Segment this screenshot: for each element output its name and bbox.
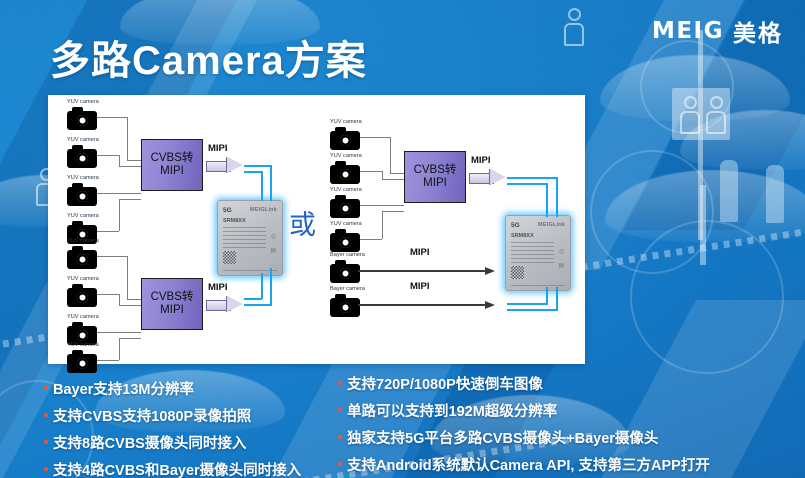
list-item-label: 支持8路CVBS摄像头同时接入 (53, 432, 246, 453)
mipi-arrow (206, 296, 242, 313)
module-sim-icon: ▤ (270, 247, 276, 254)
bullet-dot-icon (338, 435, 342, 439)
mipi-label: MIPI (410, 247, 430, 258)
bullet-dot-icon (44, 413, 48, 417)
bullet-dot-icon (338, 381, 342, 385)
list-item-label: Bayer支持13M分辨率 (53, 378, 194, 399)
module-network-label: 5G (511, 222, 520, 229)
camera-label: YUV camera (67, 213, 99, 219)
camera-label: YUV camera (67, 137, 99, 143)
yuv-camera-icon (67, 246, 97, 269)
bullet-dot-icon (338, 462, 342, 466)
module-chip-icon: ◎ (271, 233, 276, 240)
module-qr-code (223, 251, 236, 264)
list-item: 支持8路CVBS摄像头同时接入 (44, 432, 301, 453)
camera-label: YUV camera (330, 187, 362, 193)
or-divider-label: 或 (289, 203, 316, 242)
list-item-label: 支持4路CVBS和Bayer摄像头同时接入 (53, 459, 301, 478)
yuv-camera-icon (67, 107, 97, 130)
list-item-label: 支持CVBS支持1080P录像拍照 (53, 405, 251, 426)
camera-label: YUV camera (67, 175, 99, 181)
list-item: 支持4路CVBS和Bayer摄像头同时接入 (44, 459, 301, 478)
module-detail-lines (223, 227, 266, 249)
yuv-camera-icon (67, 350, 97, 373)
mipi-label: MIPI (410, 281, 430, 292)
slide-root: MEIG 美格 多路Camera方案 YUV camera YUV camera… (0, 0, 805, 478)
camera-label: YUV camera (330, 153, 362, 159)
bayer-camera-icon (330, 294, 360, 317)
diagram-panel: YUV camera YUV camera YUV camera YUV cam… (48, 95, 585, 364)
yuv-camera-icon (67, 145, 97, 168)
list-item-label: 支持720P/1080P快速倒车图像 (347, 373, 543, 394)
mipi-arrow (206, 157, 242, 174)
camera-label: Bayer camera (330, 252, 365, 258)
brand-logo: MEIG 美格 (652, 14, 783, 48)
camera-label: YUV camera (67, 99, 99, 105)
module-brand-label: MEIGLink (250, 207, 277, 213)
list-item: 独家支持5G平台多路CVBS摄像头+Bayer摄像头 (338, 427, 710, 448)
list-item: 单路可以支持到192M超级分辨率 (338, 400, 710, 421)
list-item: 支持720P/1080P快速倒车图像 (338, 373, 710, 394)
camera-label: YUV camera (330, 221, 362, 227)
camera-label: YUV camera (330, 119, 362, 125)
yuv-camera-icon (330, 127, 360, 150)
module-chip-icon: ◎ (559, 248, 564, 255)
module-network-label: 5G (223, 207, 232, 214)
camera-label: YUV camera (67, 238, 99, 244)
mipi-arrow (469, 169, 505, 186)
module-sim-icon: ▤ (558, 262, 564, 269)
module-model-label: SRM8XX (223, 218, 246, 224)
camera-label: Bayer camera (330, 286, 365, 292)
module-brand-label: MEIGLink (538, 222, 565, 228)
mipi-label: MIPI (471, 155, 491, 166)
logo-mark: MEIG (652, 18, 724, 44)
bullet-dot-icon (44, 386, 48, 390)
module-model-label: SRM8XX (511, 233, 534, 239)
module-detail-lines (511, 242, 554, 264)
yuv-camera-icon (67, 183, 97, 206)
mipi-label: MIPI (208, 282, 228, 293)
list-item: 支持CVBS支持1080P录像拍照 (44, 405, 301, 426)
yuv-camera-icon (330, 161, 360, 184)
yuv-camera-icon (330, 229, 360, 252)
feature-list-right: 支持720P/1080P快速倒车图像 单路可以支持到192M超级分辨率 独家支持… (338, 373, 710, 478)
mipi-label: MIPI (208, 143, 228, 154)
cvbs-to-mipi-box: CVBS转MIPI (141, 278, 203, 330)
page-title: 多路Camera方案 (50, 28, 367, 86)
module-footer-line (511, 285, 565, 286)
camera-label: YUV camera (67, 314, 99, 320)
list-item: 支持Android系统默认Camera API, 支持第三方APP打开 (338, 454, 710, 475)
meiglink-module: 5G MEIGLink SRM8XX ◎ ▤ (505, 215, 571, 291)
cvbs-to-mipi-box: CVBS转MIPI (141, 139, 203, 191)
bullet-dot-icon (44, 440, 48, 444)
module-qr-code (511, 266, 524, 279)
bullet-dot-icon (338, 408, 342, 412)
logo-name: 美格 (733, 14, 783, 48)
list-item-label: 单路可以支持到192M超级分辨率 (347, 400, 557, 421)
module-footer-line (223, 270, 277, 271)
architecture-diagram: YUV camera YUV camera YUV camera YUV cam… (48, 95, 585, 364)
list-item-label: 支持Android系统默认Camera API, 支持第三方APP打开 (347, 454, 710, 475)
yuv-camera-icon (67, 284, 97, 307)
camera-label: YUV camera (67, 342, 99, 348)
meiglink-module: 5G MEIGLink SRM8XX ◎ ▤ (217, 200, 283, 276)
feature-list-left: Bayer支持13M分辨率 支持CVBS支持1080P录像拍照 支持8路CVBS… (44, 378, 301, 478)
mipi-line-arrow (358, 301, 495, 309)
bullet-dot-icon (44, 467, 48, 471)
list-item: Bayer支持13M分辨率 (44, 378, 301, 399)
camera-label: YUV camera (67, 276, 99, 282)
list-item-label: 独家支持5G平台多路CVBS摄像头+Bayer摄像头 (347, 427, 658, 448)
bayer-camera-icon (330, 260, 360, 283)
mipi-line-arrow (358, 267, 495, 275)
cvbs-to-mipi-box: CVBS转MIPI (404, 151, 466, 203)
yuv-camera-icon (330, 195, 360, 218)
